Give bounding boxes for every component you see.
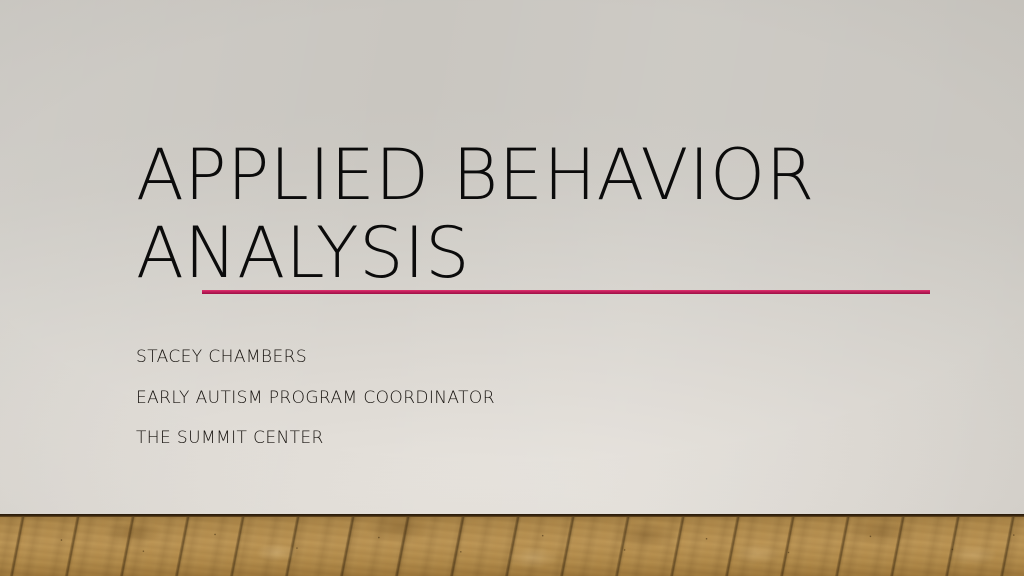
subtitle-line-presenter-name: STACEY CHAMBERS bbox=[136, 348, 896, 367]
presentation-slide: APPLIED BEHAVIOR ANALYSIS STACEY CHAMBER… bbox=[0, 0, 1024, 576]
page-title: APPLIED BEHAVIOR ANALYSIS bbox=[136, 136, 936, 293]
floor-top-edge-shadow bbox=[0, 514, 1024, 517]
title-block: APPLIED BEHAVIOR ANALYSIS bbox=[136, 136, 936, 293]
subtitle-line-presenter-role: EARLY AUTISM PROGRAM COORDINATOR bbox=[136, 389, 896, 408]
crimson-accent-rule bbox=[202, 290, 930, 294]
wooden-floor-strip bbox=[0, 514, 1024, 576]
subtitle-block: STACEY CHAMBERS EARLY AUTISM PROGRAM COO… bbox=[136, 348, 896, 448]
subtitle-line-organization: THE SUMMIT CENTER bbox=[136, 429, 896, 448]
floor-nail-heads bbox=[0, 514, 1024, 576]
